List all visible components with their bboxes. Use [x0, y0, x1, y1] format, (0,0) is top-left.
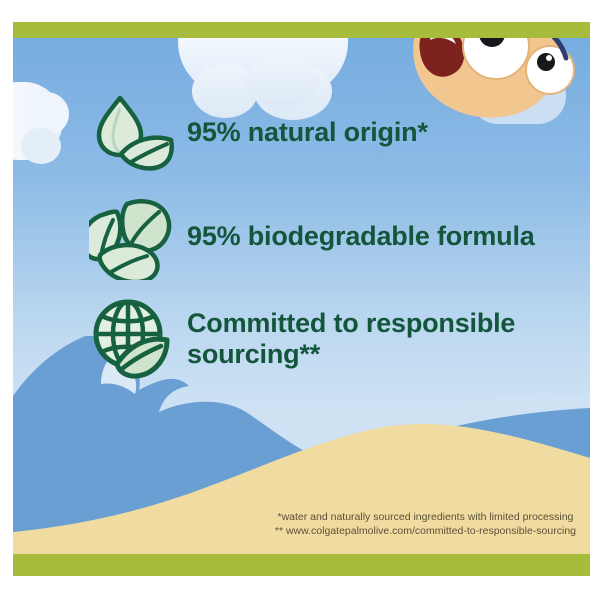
globe-leaf-icon: [89, 296, 175, 382]
claim-item-biodegradable: 95% biodegradable formula: [13, 194, 590, 280]
sustainability-claims-panel: 95% natural origin*: [13, 22, 590, 576]
cartoon-character: [400, 22, 590, 144]
footnote-line-1: *water and naturally sourced ingredients…: [275, 510, 576, 524]
footnotes: *water and naturally sourced ingredients…: [275, 510, 576, 538]
claim-text-responsible-sourcing: Committed to responsible sourcing**: [187, 308, 590, 371]
character-pupil-right: [537, 53, 555, 71]
character-eye-highlight-right: [546, 55, 552, 61]
claim-text-biodegradable: 95% biodegradable formula: [187, 221, 535, 252]
leaf-bottom: [100, 245, 158, 280]
footnote-line-2: ** www.colgatepalmolive.com/committed-to…: [275, 524, 576, 538]
bottom-accent-bar: [13, 554, 590, 576]
image-canvas: 95% natural origin*: [0, 0, 600, 600]
claim-text-natural-origin: 95% natural origin*: [187, 117, 428, 148]
water-drop-leaf-icon: [89, 90, 175, 176]
top-accent-bar: [13, 22, 590, 38]
three-leaves-recycle-icon: [89, 194, 175, 280]
claim-item-responsible-sourcing: Committed to responsible sourcing**: [13, 296, 590, 382]
